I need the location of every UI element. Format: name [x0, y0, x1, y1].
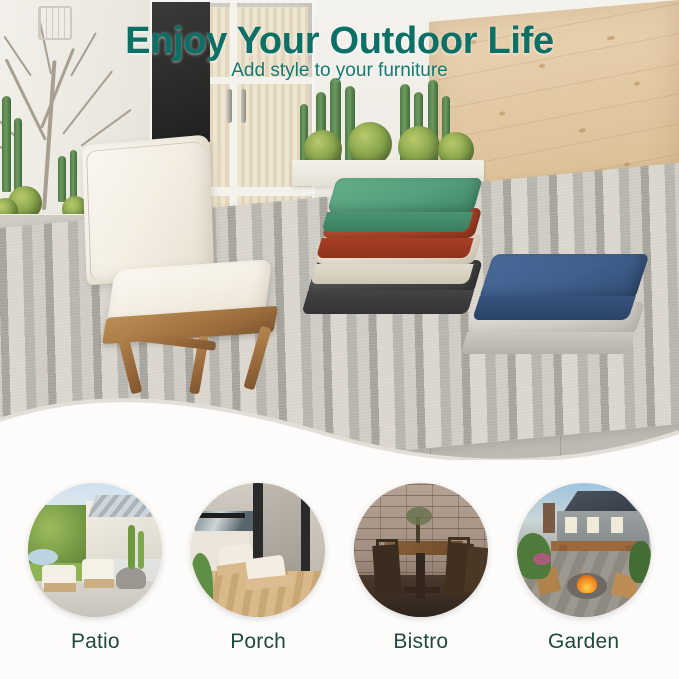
category-card-bistro[interactable]: Bistro	[351, 483, 491, 654]
category-cards: Patio	[0, 483, 679, 654]
page-title: Enjoy Your Outdoor Life	[0, 20, 679, 63]
product-infographic: Enjoy Your Outdoor Life Add style to you…	[0, 0, 679, 679]
bistro-thumbnail[interactable]	[354, 483, 488, 617]
green-cushion	[327, 178, 483, 212]
porch-thumbnail[interactable]	[191, 483, 325, 617]
navy-cushion	[479, 254, 650, 300]
garden-thumbnail[interactable]	[517, 483, 651, 617]
category-label-garden: Garden	[548, 630, 619, 654]
category-label-bistro: Bistro	[393, 630, 448, 654]
category-section: Patio	[0, 460, 679, 679]
category-label-patio: Patio	[71, 630, 120, 654]
category-card-porch[interactable]: Porch	[188, 483, 328, 654]
page-subtitle: Add style to your furniture	[0, 60, 679, 82]
patio-thumbnail[interactable]	[28, 483, 162, 617]
category-card-patio[interactable]: Patio	[25, 483, 165, 654]
chair-leg-back	[243, 326, 271, 391]
wooden-lounge-chair	[66, 140, 296, 390]
category-card-garden[interactable]: Garden	[514, 483, 654, 654]
category-label-porch: Porch	[230, 630, 286, 654]
hero-scene: Enjoy Your Outdoor Life Add style to you…	[0, 0, 679, 470]
